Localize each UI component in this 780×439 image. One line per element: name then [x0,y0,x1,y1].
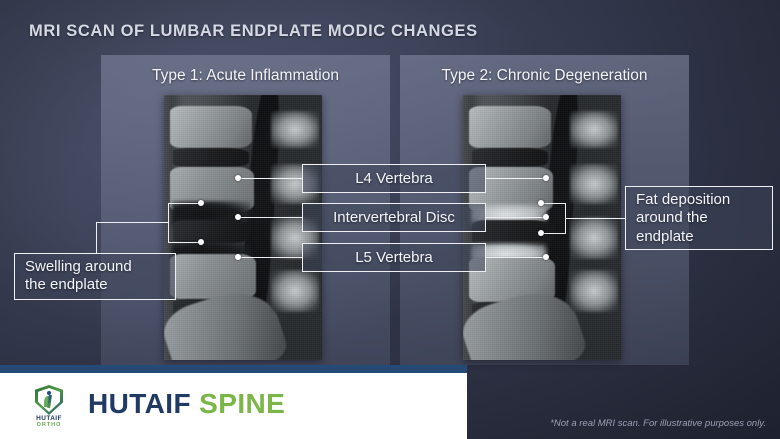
callout-intervertebral-disc[interactable]: Intervertebral Disc [302,203,486,232]
callout-l5-label: L5 Vertebra [355,249,433,266]
callout-swelling-line-1: Swelling around [25,258,165,276]
leader-dot-swelling-bottom [198,239,204,245]
posterior-element-1d [271,270,318,312]
disc-l3-l4-1 [173,148,249,167]
brand-primary: HUTAIF [88,388,191,419]
leader-dot-l5-left [235,254,241,260]
mri-scan-type-1 [164,95,322,360]
posterior-element-2c [570,217,617,259]
callout-swelling-around-endplate[interactable]: Swelling around the endplate [14,253,176,300]
spine-figure-icon [44,391,54,408]
callout-fat-line-1: Fat deposition [636,191,762,209]
leader-dot-disc-left [235,214,241,220]
leader-dot-l5-right [543,254,549,260]
leader-fat-stem [565,218,626,219]
logo-wordmark-top: HUTAIF [27,415,71,422]
leader-swelling-stem [96,222,169,223]
vertebra-l5-1 [170,254,255,299]
posterior-element-2b [570,164,617,204]
leader-swelling-top [168,203,201,204]
callout-disc-label: Intervertebral Disc [333,209,455,226]
brand-wordmark: HUTAIF SPINE [88,388,285,420]
leader-swelling-bottom [168,242,201,243]
leader-l5-right [486,257,546,258]
leader-disc-right [486,217,546,218]
callout-l4-label: L4 Vertebra [355,170,433,187]
leader-dot-l4-right [543,175,549,181]
posterior-element-2a [570,111,617,148]
panel-2-title: Type 2: Chronic Degeneration [400,67,689,85]
leader-dot-l4-left [235,175,241,181]
logo-wordmark-bottom: ORTHO [27,422,71,428]
panel-1-title: Type 1: Acute Inflammation [101,67,390,85]
brand-secondary: SPINE [199,388,285,419]
leader-dot-fat-top [538,200,544,206]
slide-canvas: MRI SCAN OF LUMBAR ENDPLATE MODIC CHANGE… [0,0,780,439]
vertebra-l3-2 [469,106,551,148]
posterior-element-2d [570,270,617,312]
spine-head-icon [47,391,51,395]
leader-swelling-drop [96,222,97,254]
callout-fat-line-2: around the [636,209,762,227]
leader-l4-left [238,178,302,179]
hutaif-ortho-logo[interactable]: HUTAIF ORTHO [27,385,71,429]
mri-scan-type-2 [463,95,621,360]
leader-fat-top [544,203,566,204]
callout-swelling-line-2: the endplate [25,276,165,294]
leader-disc-left [238,217,302,218]
posterior-element-1a [271,111,318,148]
page-title: MRI SCAN OF LUMBAR ENDPLATE MODIC CHANGE… [29,22,478,41]
leader-fat-bottom [544,233,566,234]
leader-dot-fat-bottom [538,230,544,236]
accent-bar [0,365,467,373]
callout-fat-deposition-around-endplate[interactable]: Fat deposition around the endplate [625,186,773,250]
leader-dot-disc-right [543,214,549,220]
vertebra-l3-1 [170,106,252,148]
callout-fat-line-3: endplate [636,228,762,246]
leader-l4-right [486,178,546,179]
leader-l5-left [238,257,302,258]
disclaimer-text: *Not a real MRI scan. For illustrative p… [550,418,766,429]
callout-l4-vertebra[interactable]: L4 Vertebra [302,164,486,193]
leader-dot-swelling-top [198,200,204,206]
callout-l5-vertebra[interactable]: L5 Vertebra [302,243,486,272]
